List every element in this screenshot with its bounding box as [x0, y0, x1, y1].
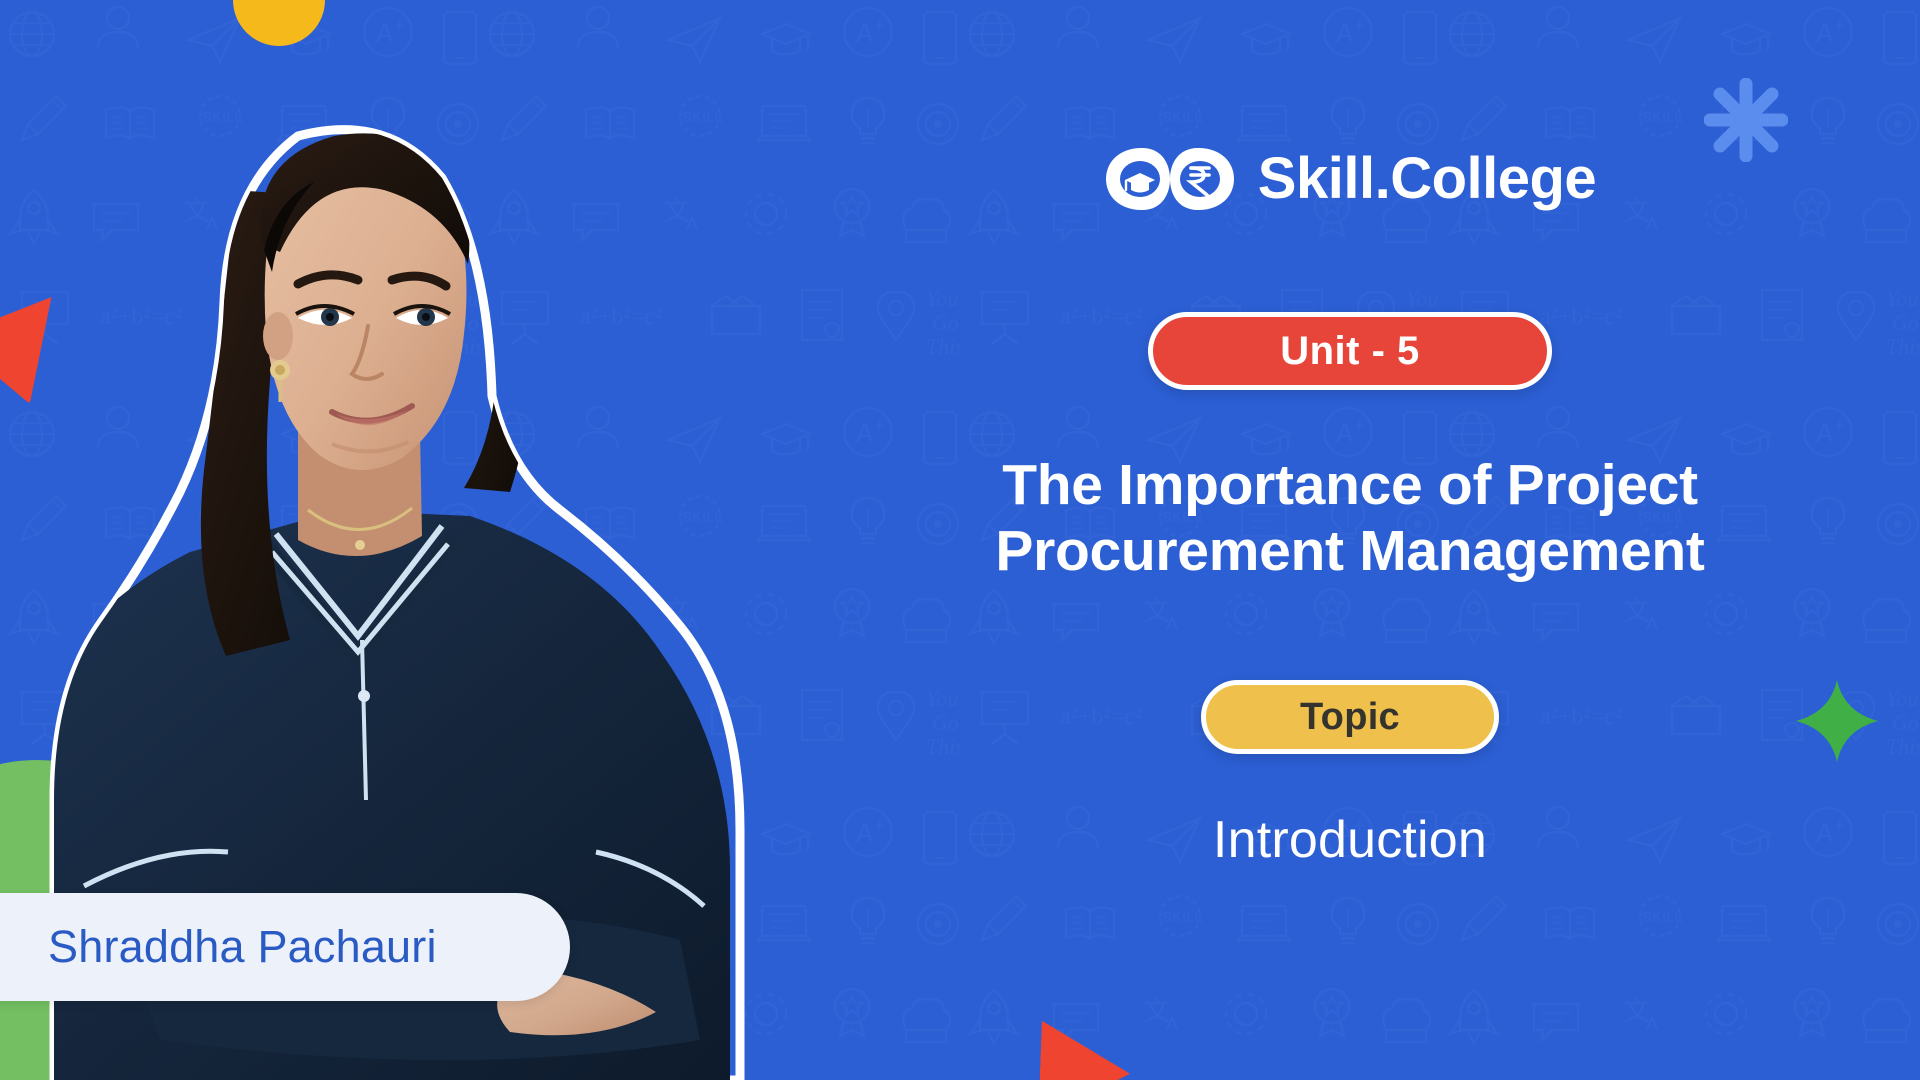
topic-badge-label: Topic	[1300, 696, 1400, 739]
slide-content-column: Skill.College Unit - 5 The Importance of…	[780, 0, 1920, 1080]
brand-name: Skill.College	[1258, 150, 1596, 208]
topic-name: Introduction	[1213, 810, 1487, 870]
unit-badge-label: Unit - 5	[1280, 329, 1420, 374]
presenter-name: Shraddha Pachauri	[48, 921, 437, 973]
lesson-slide: A +	[0, 0, 1920, 1080]
presenter-name-plate: Shraddha Pachauri	[0, 893, 570, 1001]
skill-college-infinity-logo-icon	[1104, 140, 1236, 218]
lesson-title: The Importance of Project Procurement Ma…	[850, 452, 1850, 584]
topic-badge[interactable]: Topic	[1201, 680, 1499, 754]
brand-lockup[interactable]: Skill.College	[1104, 140, 1596, 218]
unit-badge[interactable]: Unit - 5	[1148, 312, 1552, 390]
